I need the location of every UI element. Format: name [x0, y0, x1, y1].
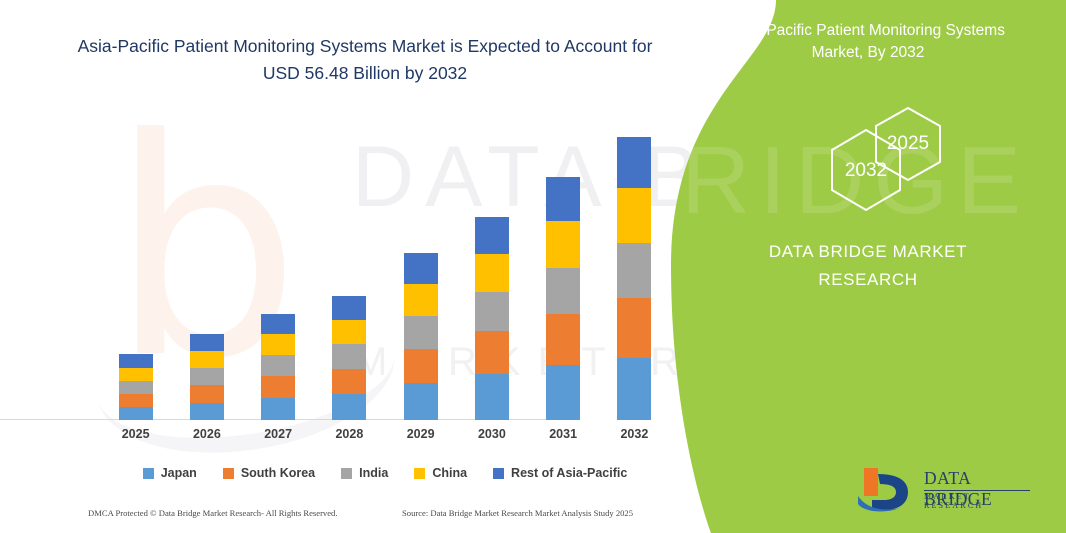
bar-segment-2031-south-korea — [546, 314, 580, 365]
bar-segment-2028-china — [332, 320, 366, 344]
bar-2032 — [617, 137, 651, 420]
bar-segment-2025-india — [119, 381, 153, 395]
bar-segment-2029-india — [404, 316, 438, 349]
bar-segment-2030-china — [475, 254, 509, 292]
chart-x-axis-labels: 20252026202720282029203020312032 — [100, 427, 670, 449]
bar-segment-2025-south-korea — [119, 394, 153, 407]
legend-swatch-rest-of-asia-pacific — [493, 468, 504, 479]
bar-segment-2031-japan — [546, 365, 580, 420]
legend-label-rest-of-asia-pacific: Rest of Asia-Pacific — [511, 466, 627, 480]
bar-segment-2026-china — [190, 351, 224, 368]
green-panel-title: Asia-Pacific Patient Monitoring Systems … — [718, 20, 1018, 64]
bar-segment-2028-rest-of-asia-pacific — [332, 296, 366, 320]
x-axis-label-2025: 2025 — [119, 427, 153, 449]
chart-legend: JapanSouth KoreaIndiaChinaRest of Asia-P… — [100, 466, 670, 480]
bar-segment-2025-rest-of-asia-pacific — [119, 354, 153, 368]
bar-segment-2027-china — [261, 334, 295, 355]
bar-segment-2032-rest-of-asia-pacific — [617, 137, 651, 188]
green-side-panel: BRIDGE Asia-Pacific Patient Monitoring S… — [666, 0, 1066, 533]
logo-divider — [924, 490, 1030, 491]
bar-segment-2027-india — [261, 355, 295, 376]
bar-segment-2027-japan — [261, 398, 295, 420]
legend-label-china: China — [432, 466, 467, 480]
bar-segment-2030-japan — [475, 374, 509, 420]
bar-segment-2032-japan — [617, 358, 651, 420]
legend-swatch-china — [414, 468, 425, 479]
bar-segment-2031-india — [546, 268, 580, 314]
bar-segment-2025-japan — [119, 407, 153, 420]
legend-item-india[interactable]: India — [341, 466, 388, 480]
x-axis-label-2028: 2028 — [332, 427, 366, 449]
hexagon-group: 2025 2032 — [718, 100, 1018, 210]
bar-segment-2028-japan — [332, 394, 366, 420]
bar-segment-2030-south-korea — [475, 331, 509, 374]
bar-segment-2029-china — [404, 284, 438, 316]
x-axis-label-2031: 2031 — [546, 427, 580, 449]
legend-swatch-south-korea — [223, 468, 234, 479]
legend-swatch-india — [341, 468, 352, 479]
bar-segment-2030-india — [475, 292, 509, 331]
bar-segment-2029-rest-of-asia-pacific — [404, 253, 438, 284]
x-axis-label-2027: 2027 — [261, 427, 295, 449]
bar-2026 — [190, 334, 224, 420]
bar-segment-2027-rest-of-asia-pacific — [261, 314, 295, 334]
bar-segment-2026-japan — [190, 403, 224, 421]
bar-segment-2028-india — [332, 344, 366, 369]
bar-segment-2027-south-korea — [261, 376, 295, 398]
chart-plot-area — [100, 121, 670, 420]
data-bridge-logo: DATA BRIDGE MARKET RESEARCH — [856, 460, 1031, 516]
x-axis-label-2026: 2026 — [190, 427, 224, 449]
bar-segment-2026-rest-of-asia-pacific — [190, 334, 224, 351]
bar-segment-2029-japan — [404, 383, 438, 420]
hexagon-right-label: 2025 — [878, 133, 938, 155]
legend-label-japan: Japan — [161, 466, 197, 480]
green-panel-brand: DATA BRIDGE MARKET RESEARCH — [718, 238, 1018, 294]
bar-segment-2025-china — [119, 368, 153, 381]
infographic-page: b DATA BRIDGE MARKET RESEARCH Asia-Pacif… — [0, 0, 1066, 533]
bar-segment-2031-china — [546, 221, 580, 268]
x-axis-label-2030: 2030 — [475, 427, 509, 449]
legend-swatch-japan — [143, 468, 154, 479]
legend-item-rest-of-asia-pacific[interactable]: Rest of Asia-Pacific — [493, 466, 627, 480]
legend-label-south-korea: South Korea — [241, 466, 315, 480]
legend-label-india: India — [359, 466, 388, 480]
legend-item-south-korea[interactable]: South Korea — [223, 466, 315, 480]
data-bridge-b-logo-icon — [856, 462, 918, 514]
hexagon-left-label: 2032 — [836, 160, 896, 182]
bar-2025 — [119, 354, 153, 420]
legend-item-china[interactable]: China — [414, 466, 467, 480]
x-axis-label-2032: 2032 — [617, 427, 651, 449]
legend-item-japan[interactable]: Japan — [143, 466, 197, 480]
x-axis-label-2029: 2029 — [404, 427, 438, 449]
page-title: Asia-Pacific Patient Monitoring Systems … — [60, 33, 670, 87]
footer-source: Source: Data Bridge Market Research Mark… — [402, 508, 633, 518]
bar-segment-2028-south-korea — [332, 369, 366, 394]
bar-segment-2032-china — [617, 188, 651, 243]
footer-copyright: DMCA Protected © Data Bridge Market Rese… — [88, 508, 338, 518]
stacked-bar-chart — [100, 120, 670, 420]
bar-2027 — [261, 314, 295, 420]
bar-segment-2032-south-korea — [617, 298, 651, 358]
bar-segment-2030-rest-of-asia-pacific — [475, 217, 509, 254]
bar-2028 — [332, 296, 366, 420]
bar-2029 — [404, 253, 438, 420]
logo-subtitle: MARKET RESEARCH — [924, 492, 1031, 510]
bar-2031 — [546, 177, 580, 420]
bar-2030 — [475, 217, 509, 420]
bar-segment-2026-india — [190, 368, 224, 385]
bar-segment-2031-rest-of-asia-pacific — [546, 177, 580, 221]
bar-segment-2032-india — [617, 243, 651, 299]
bar-segment-2026-south-korea — [190, 385, 224, 403]
bar-segment-2029-south-korea — [404, 349, 438, 383]
